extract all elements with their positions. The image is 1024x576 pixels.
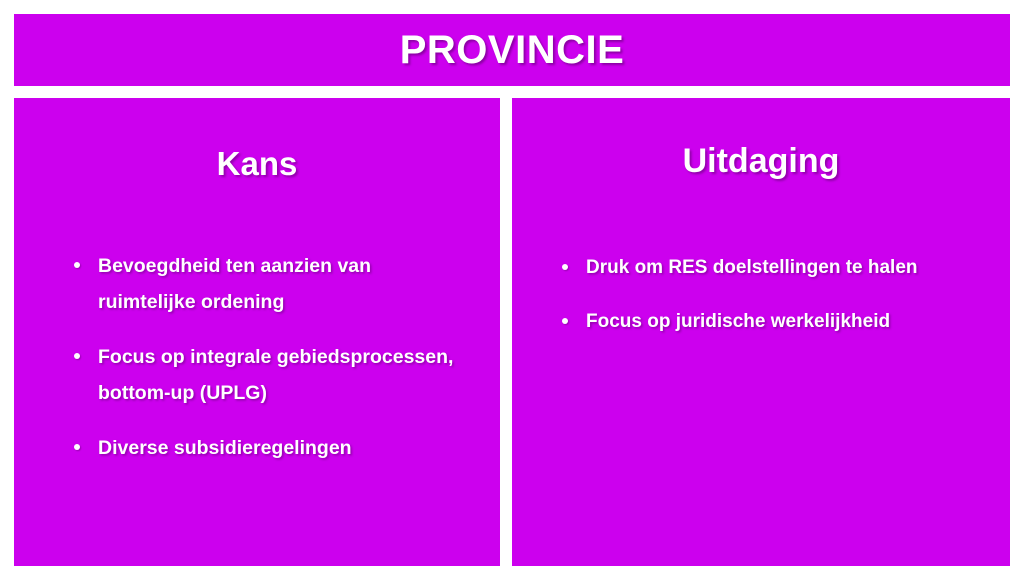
bullet-dot-icon — [74, 444, 80, 450]
list-item-label: Diverse subsidieregelingen — [98, 437, 352, 459]
bullet-dot-icon — [74, 353, 80, 359]
page-title: PROVINCIE — [400, 30, 625, 70]
bullet-list-kans: Bevoegdheid ten aanzien van ruimtelijke … — [66, 248, 460, 466]
panel-kans: Kans Bevoegdheid ten aanzien van ruimtel… — [14, 98, 500, 566]
list-item: Druk om RES doelstellingen te halen — [554, 250, 996, 286]
list-item: Bevoegdheid ten aanzien van ruimtelijke … — [66, 248, 460, 320]
bullet-dot-icon — [562, 264, 568, 270]
list-item: Diverse subsidieregelingen — [66, 430, 460, 466]
bullet-dot-icon — [562, 318, 568, 324]
bullet-list-uitdaging: Druk om RES doelstellingen te halen Focu… — [554, 250, 996, 340]
panel-heading-uitdaging: Uitdaging — [512, 143, 1010, 180]
list-item-label: Focus op integrale gebiedsprocessen, bot… — [98, 346, 453, 404]
panel-uitdaging: Uitdaging Druk om RES doelstellingen te … — [512, 98, 1010, 566]
slide-canvas: PROVINCIE Kans Bevoegdheid ten aanzien v… — [0, 0, 1024, 576]
list-item-label: Bevoegdheid ten aanzien van ruimtelijke … — [98, 255, 371, 313]
list-item-label: Druk om RES doelstellingen te halen — [586, 257, 918, 278]
list-item: Focus op integrale gebiedsprocessen, bot… — [66, 339, 460, 411]
bullet-dot-icon — [74, 262, 80, 268]
list-item-label: Focus op juridische werkelijkheid — [586, 311, 890, 332]
panel-heading-kans: Kans — [14, 146, 500, 182]
header-band: PROVINCIE — [14, 14, 1010, 86]
list-item: Focus op juridische werkelijkheid — [554, 304, 996, 340]
